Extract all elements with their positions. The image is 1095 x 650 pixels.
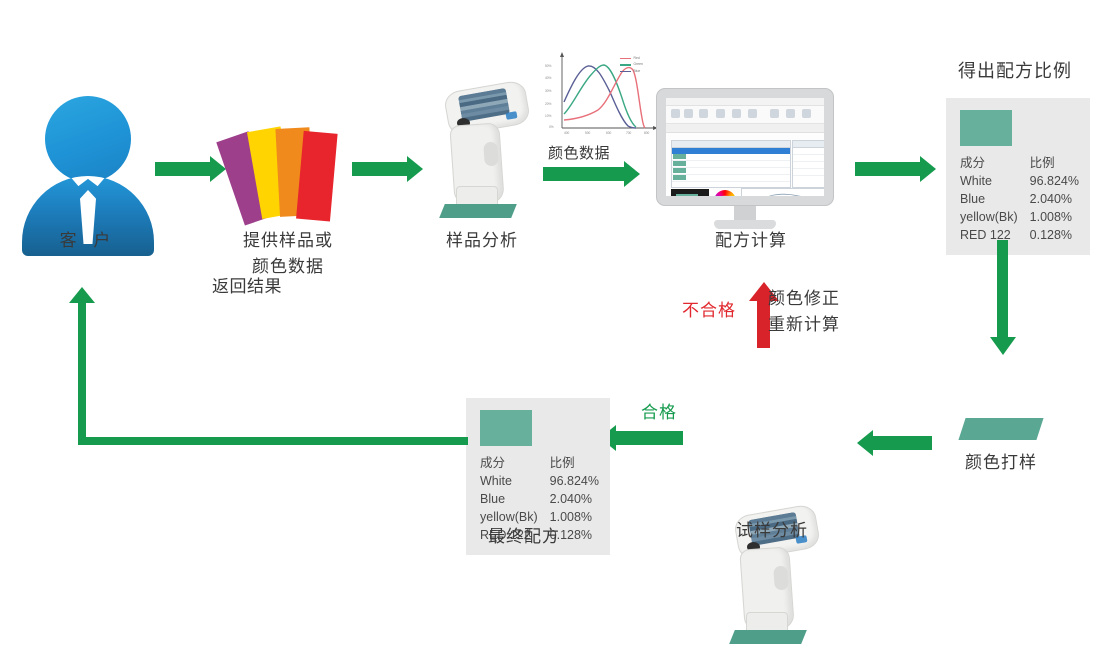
formula-swatch-final	[480, 410, 532, 446]
table-row: yellow(Bk) 1.008%	[960, 209, 1079, 227]
sample-analysis-label: 样品分析	[412, 228, 552, 254]
table-row: Blue 2.040%	[480, 491, 599, 509]
xtick-400: 400	[564, 131, 569, 135]
software-tabs[interactable]	[666, 124, 824, 133]
customer-label: 客 户	[18, 228, 158, 254]
arrow-customer-to-sample	[155, 162, 211, 176]
formula-component: Blue	[960, 191, 1030, 209]
formula-header-component: 成分	[960, 155, 1030, 173]
ytick-40: 40%	[545, 76, 551, 80]
device-sample-plate	[729, 630, 807, 644]
chart-legend: Red Green Blue	[620, 56, 643, 75]
arrow-pass-to-final	[615, 431, 683, 445]
fail-label: 不合格	[672, 298, 746, 324]
legend-blue: Blue	[634, 69, 641, 74]
table-row: White 96.824%	[960, 173, 1079, 191]
recalc-label: 颜色修正 重新计算	[768, 286, 868, 338]
color-card-red	[296, 131, 338, 222]
software-toolbar[interactable]	[666, 106, 824, 124]
arrow-return-to-customer	[69, 287, 95, 303]
final-formula-label: 最终配方	[464, 524, 584, 550]
pass-label: 合格	[622, 400, 696, 426]
proof-swatch	[958, 418, 1043, 440]
ytick-0: 0%	[549, 125, 554, 129]
device-thumbpad	[773, 566, 789, 591]
spectral-chart: Red Green Blue 50% 40% 30% 20% 10% 0% 40…	[536, 44, 662, 140]
formula-ratio: 2.040%	[550, 491, 599, 509]
legend-red: Red	[634, 56, 640, 61]
formula-component: Blue	[480, 491, 550, 509]
ytick-50: 50%	[545, 64, 551, 68]
color-wheel-icon[interactable]	[714, 190, 736, 196]
software-values-panel[interactable]	[792, 140, 824, 188]
xtick-800: 800	[644, 131, 649, 135]
return-line-vertical	[78, 302, 86, 442]
formula-ratio: 96.824%	[550, 473, 599, 491]
result-title-label: 得出配方比例	[940, 58, 1090, 84]
device-sample-plate	[439, 204, 517, 218]
workflow-diagram: 客 户 提供样品或 颜色数据 样品分析	[0, 0, 1095, 556]
formula-swatch-top	[960, 110, 1012, 146]
return-result-label: 返回结果	[212, 272, 282, 297]
formula-ratio: 1.008%	[1030, 209, 1079, 227]
ytick-10: 10%	[545, 114, 551, 118]
spectral-chart-svg	[536, 44, 662, 140]
xtick-500: 500	[585, 131, 590, 135]
customer-head-icon	[45, 96, 131, 182]
software-color-preview	[671, 189, 709, 196]
formula-component: White	[480, 473, 550, 491]
device-thumbpad	[483, 142, 499, 167]
table-row: White 96.824%	[480, 473, 599, 491]
monitor-frame	[656, 88, 834, 206]
monitor-screen	[666, 98, 824, 196]
formula-calc-label: 配方计算	[688, 228, 814, 254]
table-row: Blue 2.040%	[960, 191, 1079, 209]
software-data-grid[interactable]	[671, 140, 791, 188]
formula-ratio: 2.040%	[1030, 191, 1079, 209]
formula-header-component: 成分	[480, 455, 550, 473]
software-menubar[interactable]	[666, 98, 824, 106]
ytick-30: 30%	[545, 89, 551, 93]
ytick-20: 20%	[545, 102, 551, 106]
spectrophotometer-sample	[428, 80, 534, 220]
formula-ratio: 0.128%	[1030, 227, 1079, 245]
arrow-proof-to-trial	[872, 436, 932, 450]
formula-monitor	[656, 88, 834, 234]
software-spectrum-panel[interactable]	[741, 188, 824, 196]
table-row: RED 122 0.128%	[960, 227, 1079, 245]
arrow-color-data	[543, 167, 625, 181]
formula-component: RED 122	[960, 227, 1030, 245]
xtick-700: 700	[626, 131, 631, 135]
proof-label: 颜色打样	[938, 450, 1064, 476]
trial-analysis-label: 试样分析	[702, 518, 842, 544]
formula-table-top: 成分 比例 White 96.824% Blue 2.040% yellow(B…	[946, 98, 1090, 255]
formula-component: White	[960, 173, 1030, 191]
formula-header-ratio: 比例	[1030, 155, 1079, 173]
formula-header-ratio: 比例	[550, 455, 599, 473]
xtick-600: 600	[606, 131, 611, 135]
color-data-label: 颜色数据	[548, 142, 610, 163]
arrow-calc-to-result	[855, 162, 921, 176]
arrow-result-to-proof	[997, 240, 1008, 338]
legend-green: Green	[634, 62, 643, 67]
return-line-horizontal	[78, 437, 468, 445]
formula-ratio: 96.824%	[1030, 173, 1079, 191]
color-cards-node	[238, 126, 338, 218]
formula-component: yellow(Bk)	[960, 209, 1030, 227]
arrow-sample-to-analysis	[352, 162, 408, 176]
